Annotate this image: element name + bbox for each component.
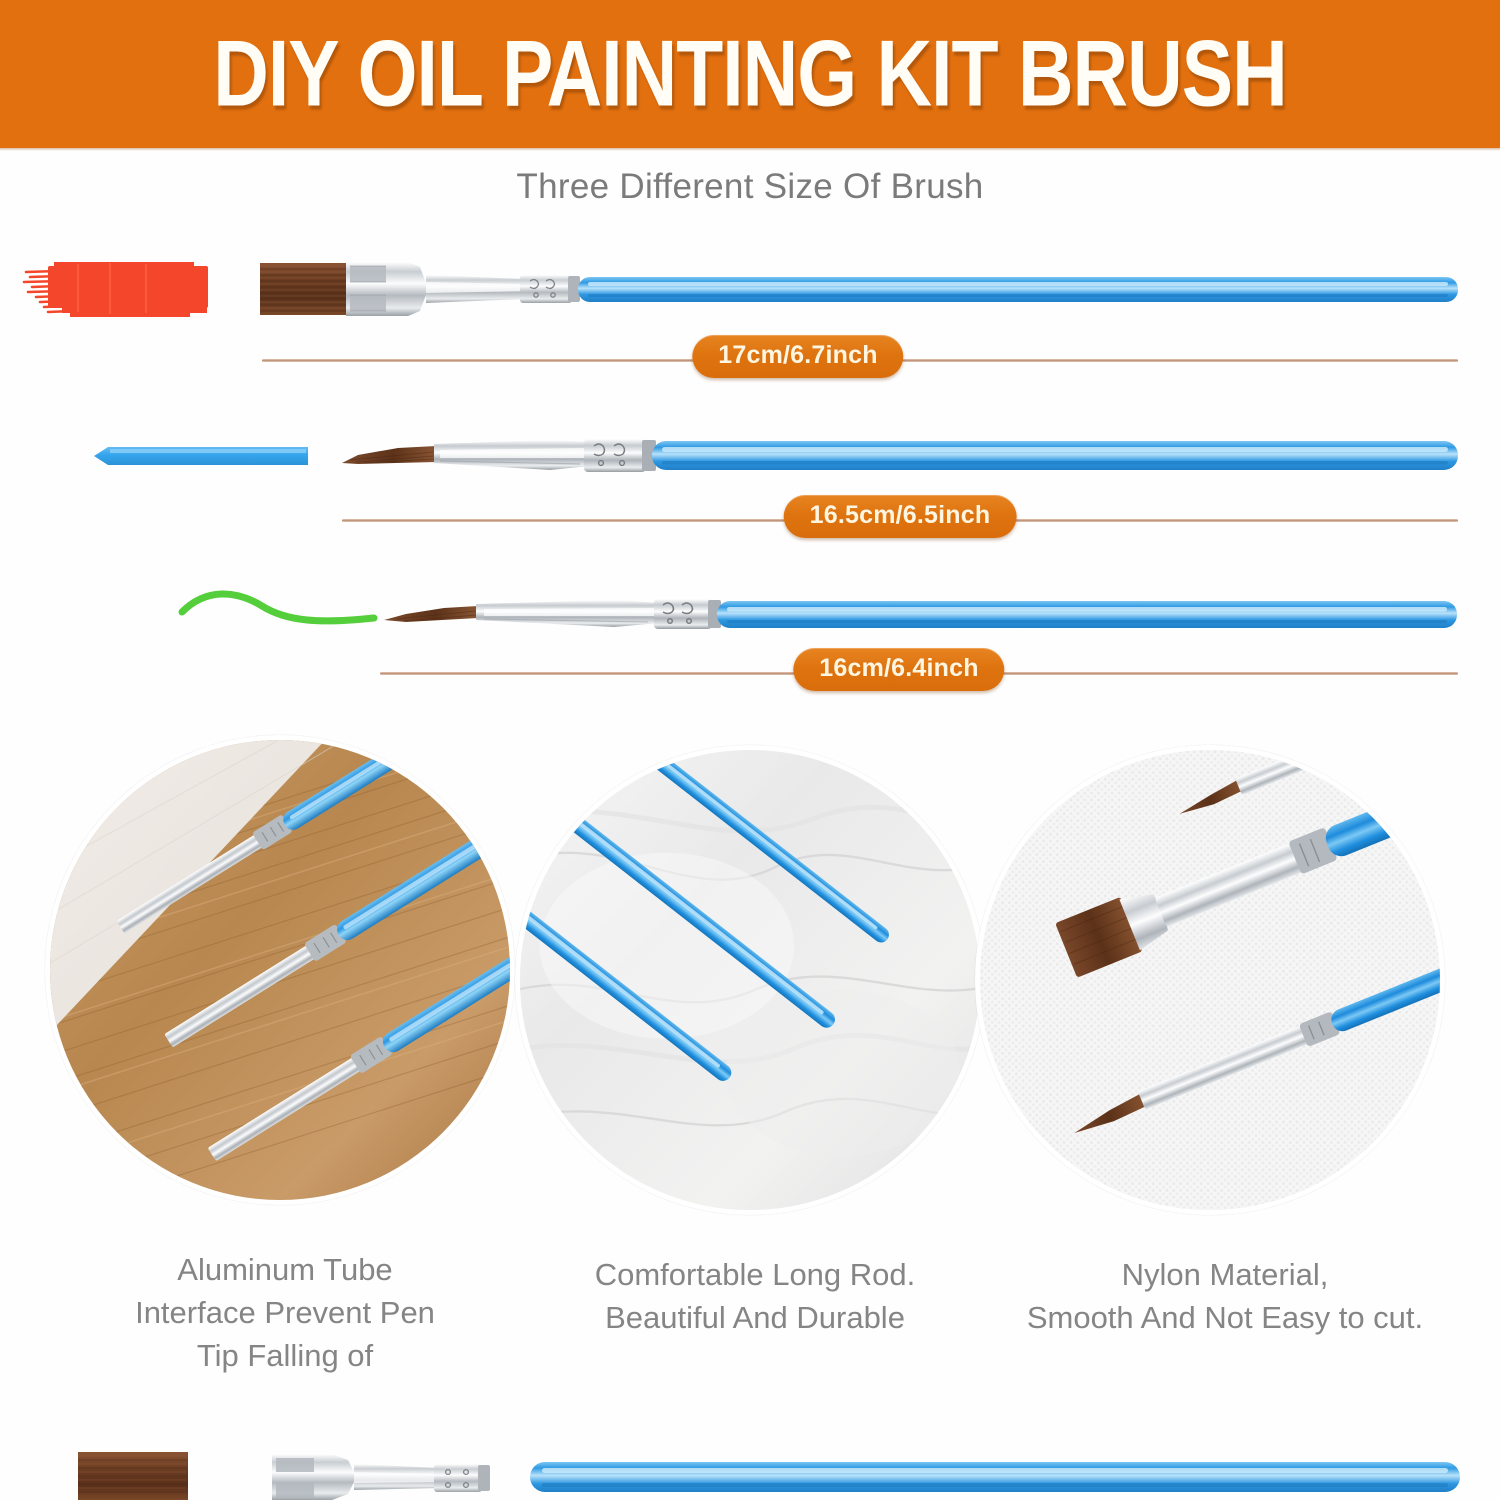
feature-captions: Aluminum Tube Interface Prevent Pen Tip … — [0, 1248, 1500, 1398]
detail-brush-illustration — [382, 592, 1460, 640]
bristle-tuft — [78, 1452, 188, 1500]
flat-brush-illustration — [258, 253, 1463, 325]
caption-nylon-material: Nylon Material, Smooth And Not Easy to c… — [985, 1253, 1465, 1339]
blue-handle-rod — [530, 1462, 1460, 1492]
blue-handles-on-marble-photo — [515, 745, 985, 1215]
feature-photos — [0, 735, 1500, 1235]
caption-line: Aluminum Tube — [60, 1248, 510, 1291]
caption-line: Interface Prevent Pen — [60, 1291, 510, 1334]
feature-card-1 — [45, 735, 515, 1205]
measure-rule-17cm: 17cm/6.7inch — [262, 357, 1458, 363]
feature-card-3 — [975, 745, 1445, 1215]
caption-line: Smooth And Not Easy to cut. — [985, 1296, 1465, 1339]
brush-row-detail: 16cm/6.4inch — [0, 570, 1500, 715]
subtitle: Three Different Size Of Brush — [0, 167, 1500, 207]
size-badge-17cm: 17cm/6.7inch — [692, 335, 903, 378]
caption-line: Beautiful And Durable — [525, 1296, 985, 1339]
feature-card-2 — [515, 745, 985, 1215]
measure-rule-16cm: 16cm/6.4inch — [380, 670, 1458, 676]
brushes-on-canvas-photo — [975, 745, 1445, 1215]
caption-long-rod: Comfortable Long Rod. Beautiful And Dura… — [525, 1253, 985, 1339]
blue-paint-stroke-icon — [92, 444, 310, 468]
caption-line: Comfortable Long Rod. — [525, 1253, 985, 1296]
green-paint-squiggle-icon — [178, 580, 378, 628]
brush-row-round: 16.5cm/6.5inch — [0, 420, 1500, 560]
page-title: DIY OIL PAINTING KIT BRUSH — [213, 27, 1286, 121]
brushes-on-bamboo-photo — [45, 735, 515, 1205]
brush-row-flat: 17cm/6.7inch — [0, 245, 1500, 395]
exploded-brush-parts — [0, 1430, 1500, 1500]
size-badge-16-5cm: 16.5cm/6.5inch — [784, 495, 1017, 538]
caption-aluminum-tube: Aluminum Tube Interface Prevent Pen Tip … — [60, 1248, 510, 1377]
aluminum-ferrule — [272, 1454, 490, 1500]
round-brush-illustration — [340, 430, 1462, 486]
size-badge-16cm: 16cm/6.4inch — [793, 648, 1004, 691]
header-banner: DIY OIL PAINTING KIT BRUSH — [0, 0, 1500, 148]
red-paint-swatch-icon — [18, 260, 223, 320]
measure-rule-16-5cm: 16.5cm/6.5inch — [342, 517, 1458, 523]
caption-line: Nylon Material, — [985, 1253, 1465, 1296]
caption-line: Tip Falling of — [60, 1334, 510, 1377]
